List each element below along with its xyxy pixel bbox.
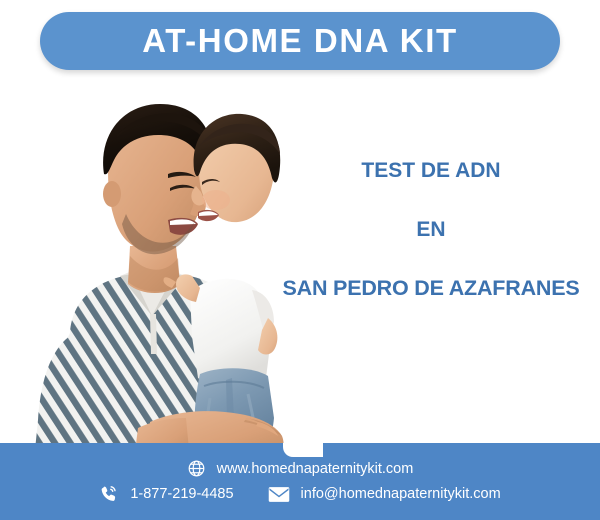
footer-phone-text: 1-877-219-4485	[130, 486, 233, 502]
footer-email-text: info@homednapaternitykit.com	[301, 486, 501, 502]
footer-phone-item[interactable]: 1-877-219-4485	[99, 484, 233, 504]
promo-text-block: TEST DE ADN EN SAN PEDRO DE AZAFRANES	[262, 160, 600, 300]
phone-icon	[99, 484, 119, 504]
footer-row-website: www.homednapaternitykit.com	[0, 459, 600, 478]
header-banner: AT-HOME DNA KIT	[40, 12, 560, 70]
dna-kit-promo-banner: AT-HOME DNA KIT	[0, 0, 600, 520]
footer-content: www.homednapaternitykit.com 1-877-219-44…	[0, 443, 600, 520]
footer-row-phone-email: 1-877-219-4485 info@homednapaternitykit.…	[0, 484, 600, 504]
footer-website-text: www.homednapaternitykit.com	[217, 461, 414, 477]
promo-line-en: EN	[262, 219, 600, 240]
globe-icon	[187, 459, 206, 478]
promo-line-location: SAN PEDRO DE AZAFRANES	[262, 278, 600, 300]
footer-website-item[interactable]: www.homednapaternitykit.com	[187, 459, 414, 478]
promo-line-test-de-adn: TEST DE ADN	[262, 160, 600, 181]
footer-email-item[interactable]: info@homednapaternitykit.com	[268, 486, 501, 503]
footer-contact-bar: www.homednapaternitykit.com 1-877-219-44…	[0, 443, 600, 520]
header-title: AT-HOME DNA KIT	[142, 22, 457, 60]
envelope-icon	[268, 486, 290, 503]
